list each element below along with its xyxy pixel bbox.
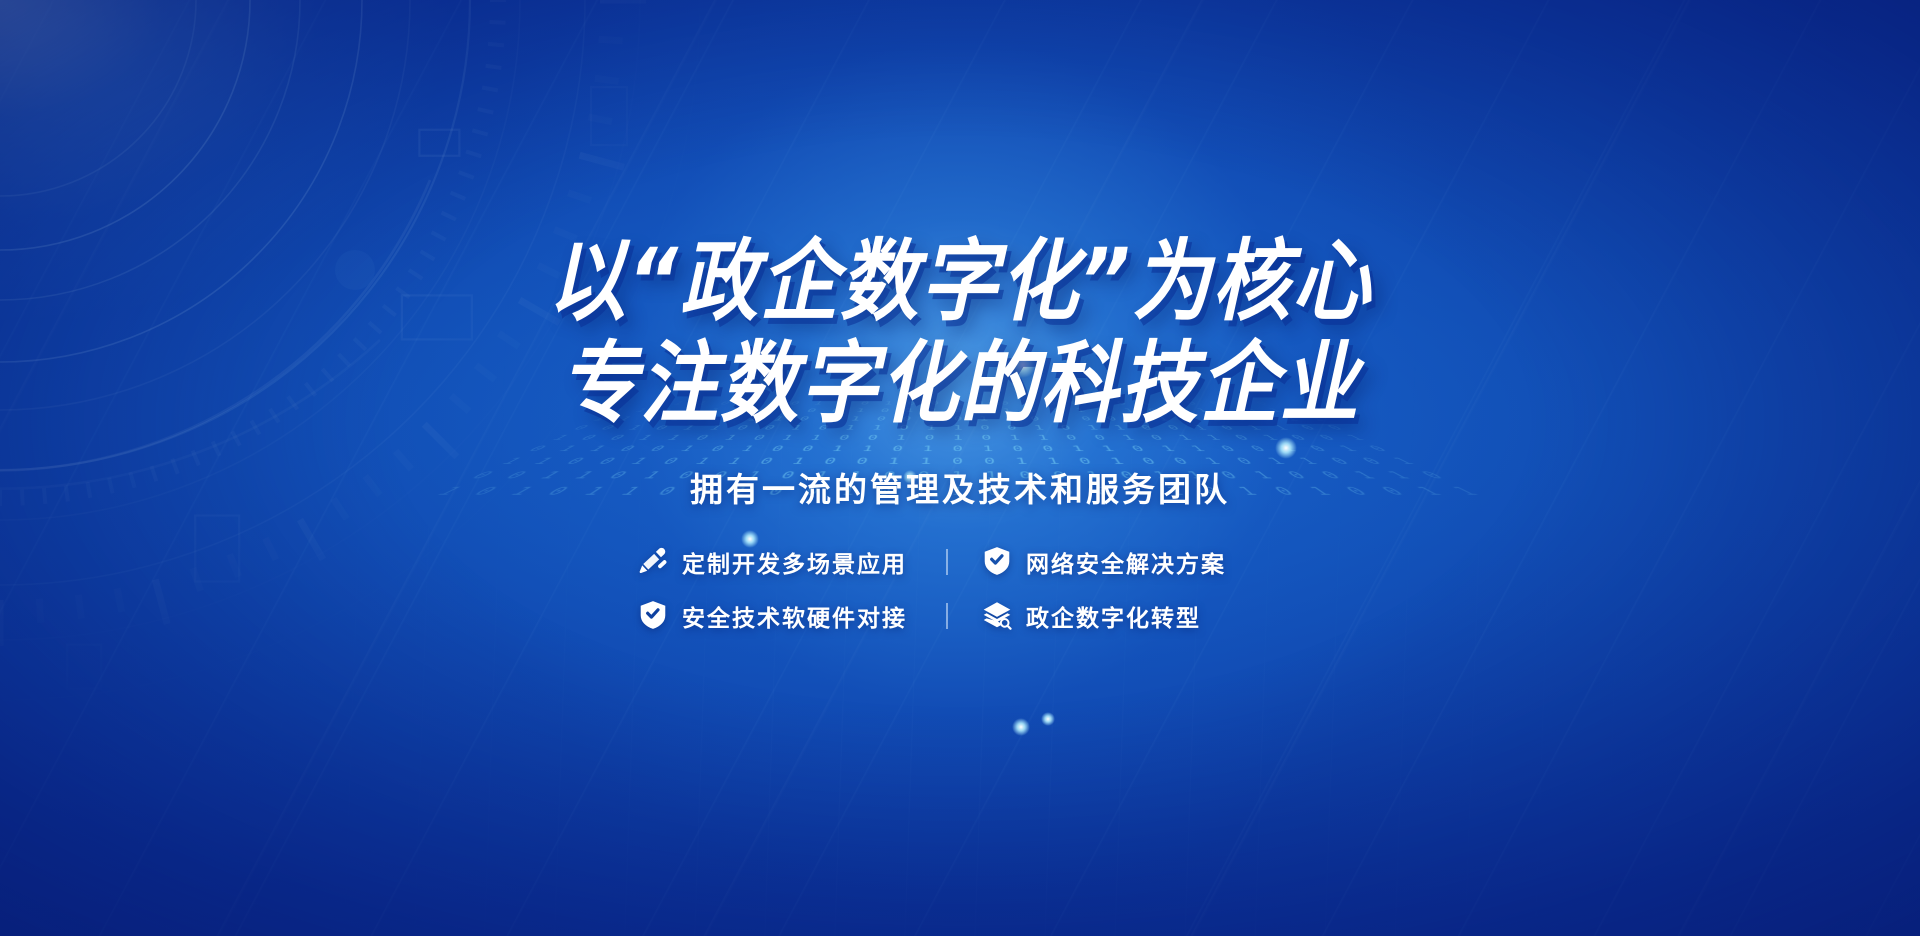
feature-row-1: 定制开发多场景应用 网络安全解决方案 — [638, 545, 1282, 579]
feature-list: 定制开发多场景应用 网络安全解决方案 — [638, 545, 1282, 633]
subtitle: 拥有一流的管理及技术和服务团队 — [690, 463, 1230, 511]
feature-row-2: 安全技术软硬件对接 — [638, 599, 1282, 633]
feature-label: 网络安全解决方案 — [1026, 545, 1226, 579]
feature-item-custom-development[interactable]: 定制开发多场景应用 — [638, 545, 938, 579]
headline-line-1: 以“政企数字化”为核心 — [548, 238, 1372, 329]
feature-item-network-security[interactable]: 网络安全解决方案 — [982, 545, 1282, 579]
feature-label: 政企数字化转型 — [1026, 599, 1201, 633]
feature-label: 安全技术软硬件对接 — [682, 599, 907, 633]
feature-divider — [946, 603, 948, 629]
headline-line-2: 专注数字化的科技企业 — [548, 340, 1372, 431]
pencil-edit-icon — [638, 546, 668, 578]
hero-banner: 1 0 1 1 0 0 1 0 1 1 0 1 0 0 1 1 0 1 0 0 … — [0, 0, 1920, 936]
headline-block: 以“政企数字化”为核心 专注数字化的科技企业 — [548, 238, 1372, 419]
layers-search-icon — [982, 600, 1012, 632]
banner-content: 以“政企数字化”为核心 专注数字化的科技企业 拥有一流的管理及技术和服务团队 — [0, 0, 1920, 936]
shield-check-icon — [982, 546, 1012, 578]
feature-divider — [946, 549, 948, 575]
feature-label: 定制开发多场景应用 — [682, 545, 907, 579]
shield-check-icon — [638, 600, 668, 632]
feature-item-digital-transformation[interactable]: 政企数字化转型 — [982, 599, 1282, 633]
feature-item-security-integration[interactable]: 安全技术软硬件对接 — [638, 599, 938, 633]
